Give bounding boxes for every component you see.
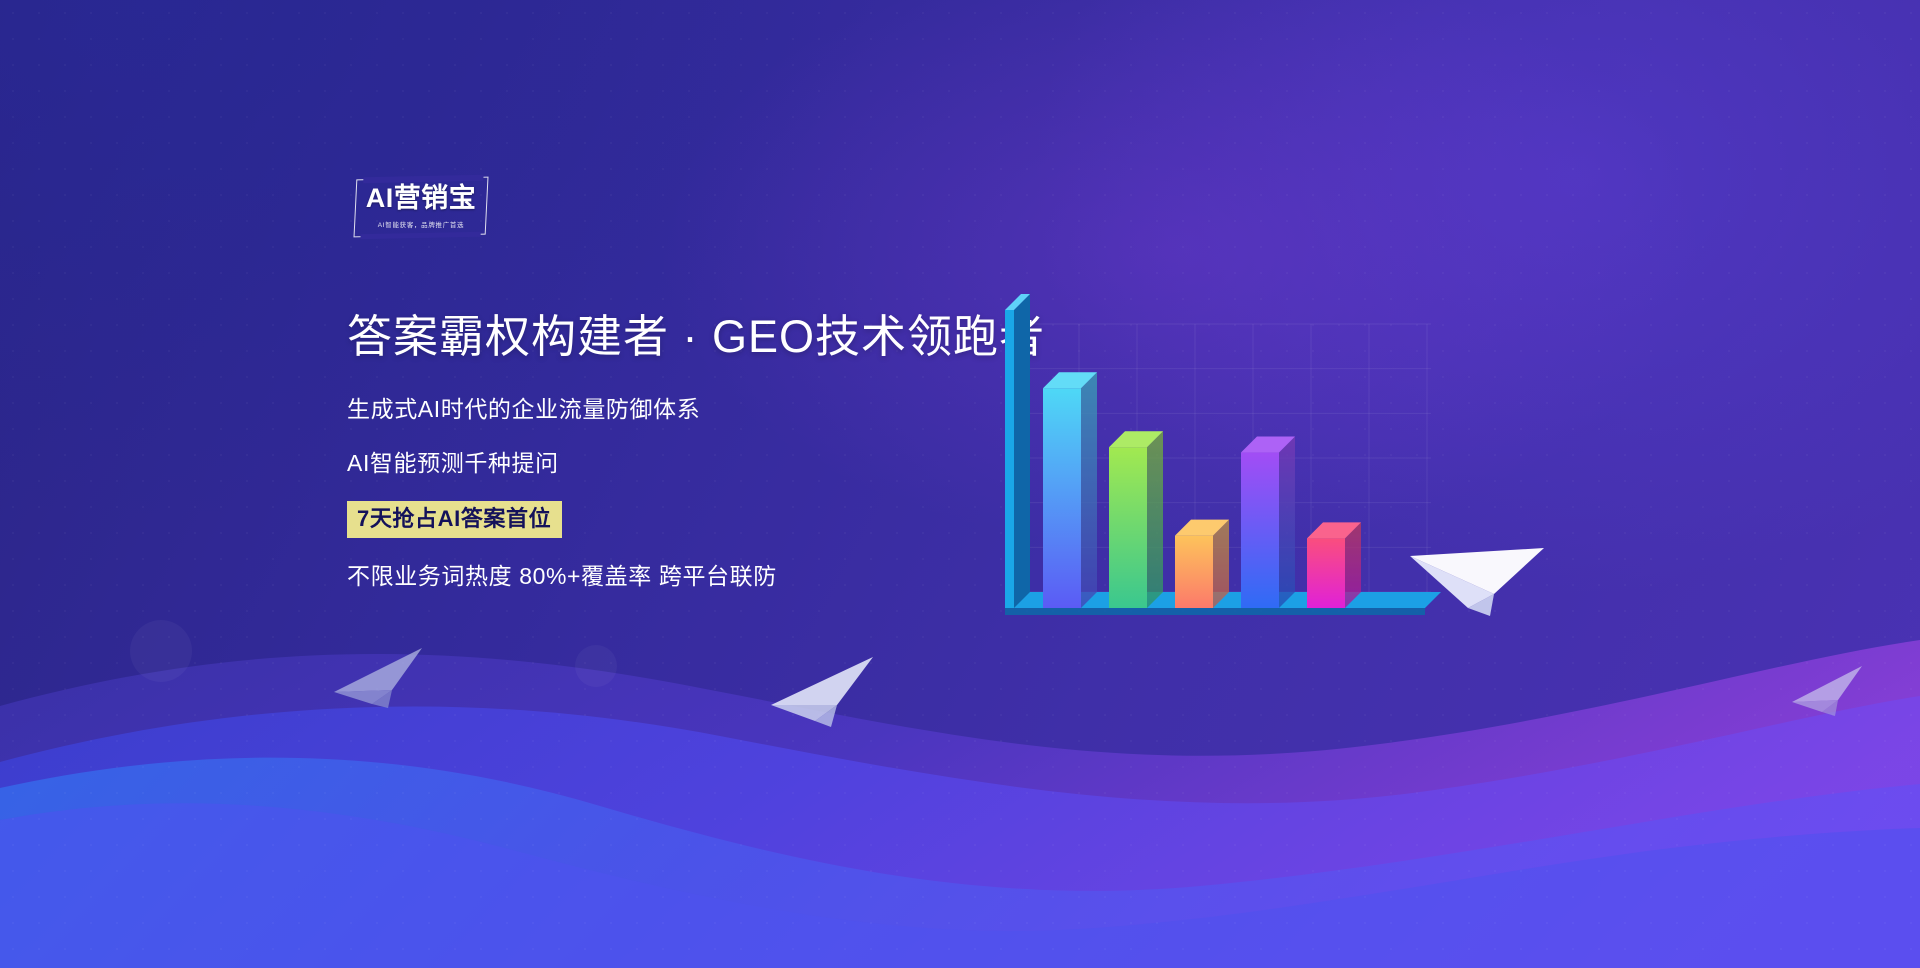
circle-decoration-left-2 xyxy=(575,645,617,687)
paper-plane-large-right xyxy=(1398,512,1548,622)
hero-subline-2: AI智能预测千种提问 xyxy=(347,452,1047,475)
logo-tagline: AI智能获客，品牌推广首选 xyxy=(360,222,481,228)
hero-subline-1: 生成式AI时代的企业流量防御体系 xyxy=(347,398,1047,421)
bar-chart xyxy=(975,290,1445,660)
hero-copy: 答案霸权构建者 · GEO技术领跑者 生成式AI时代的企业流量防御体系 AI智能… xyxy=(347,310,1047,588)
hero-highlight-wrap: 7天抢占AI答案首位 xyxy=(347,501,1047,538)
paper-plane-small-right xyxy=(1788,660,1868,720)
chart-bars xyxy=(975,290,1445,660)
paper-plane-mid-left xyxy=(765,645,885,735)
logo-wordmark: AI营销宝 xyxy=(355,185,487,212)
paper-plane-small-left xyxy=(330,640,430,712)
hero-highlight-badge: 7天抢占AI答案首位 xyxy=(347,501,562,538)
page-title: 答案霸权构建者 · GEO技术领跑者 xyxy=(347,310,1047,363)
hero-subline-4: 不限业务词热度 80%+覆盖率 跨平台联防 xyxy=(347,565,1047,588)
hero-banner: AI营销宝 AI智能获客，品牌推广首选 答案霸权构建者 · GEO技术领跑者 生… xyxy=(0,0,1920,968)
logo[interactable]: AI营销宝 AI智能获客，品牌推广首选 xyxy=(355,178,487,236)
circle-decoration-left xyxy=(130,620,192,682)
